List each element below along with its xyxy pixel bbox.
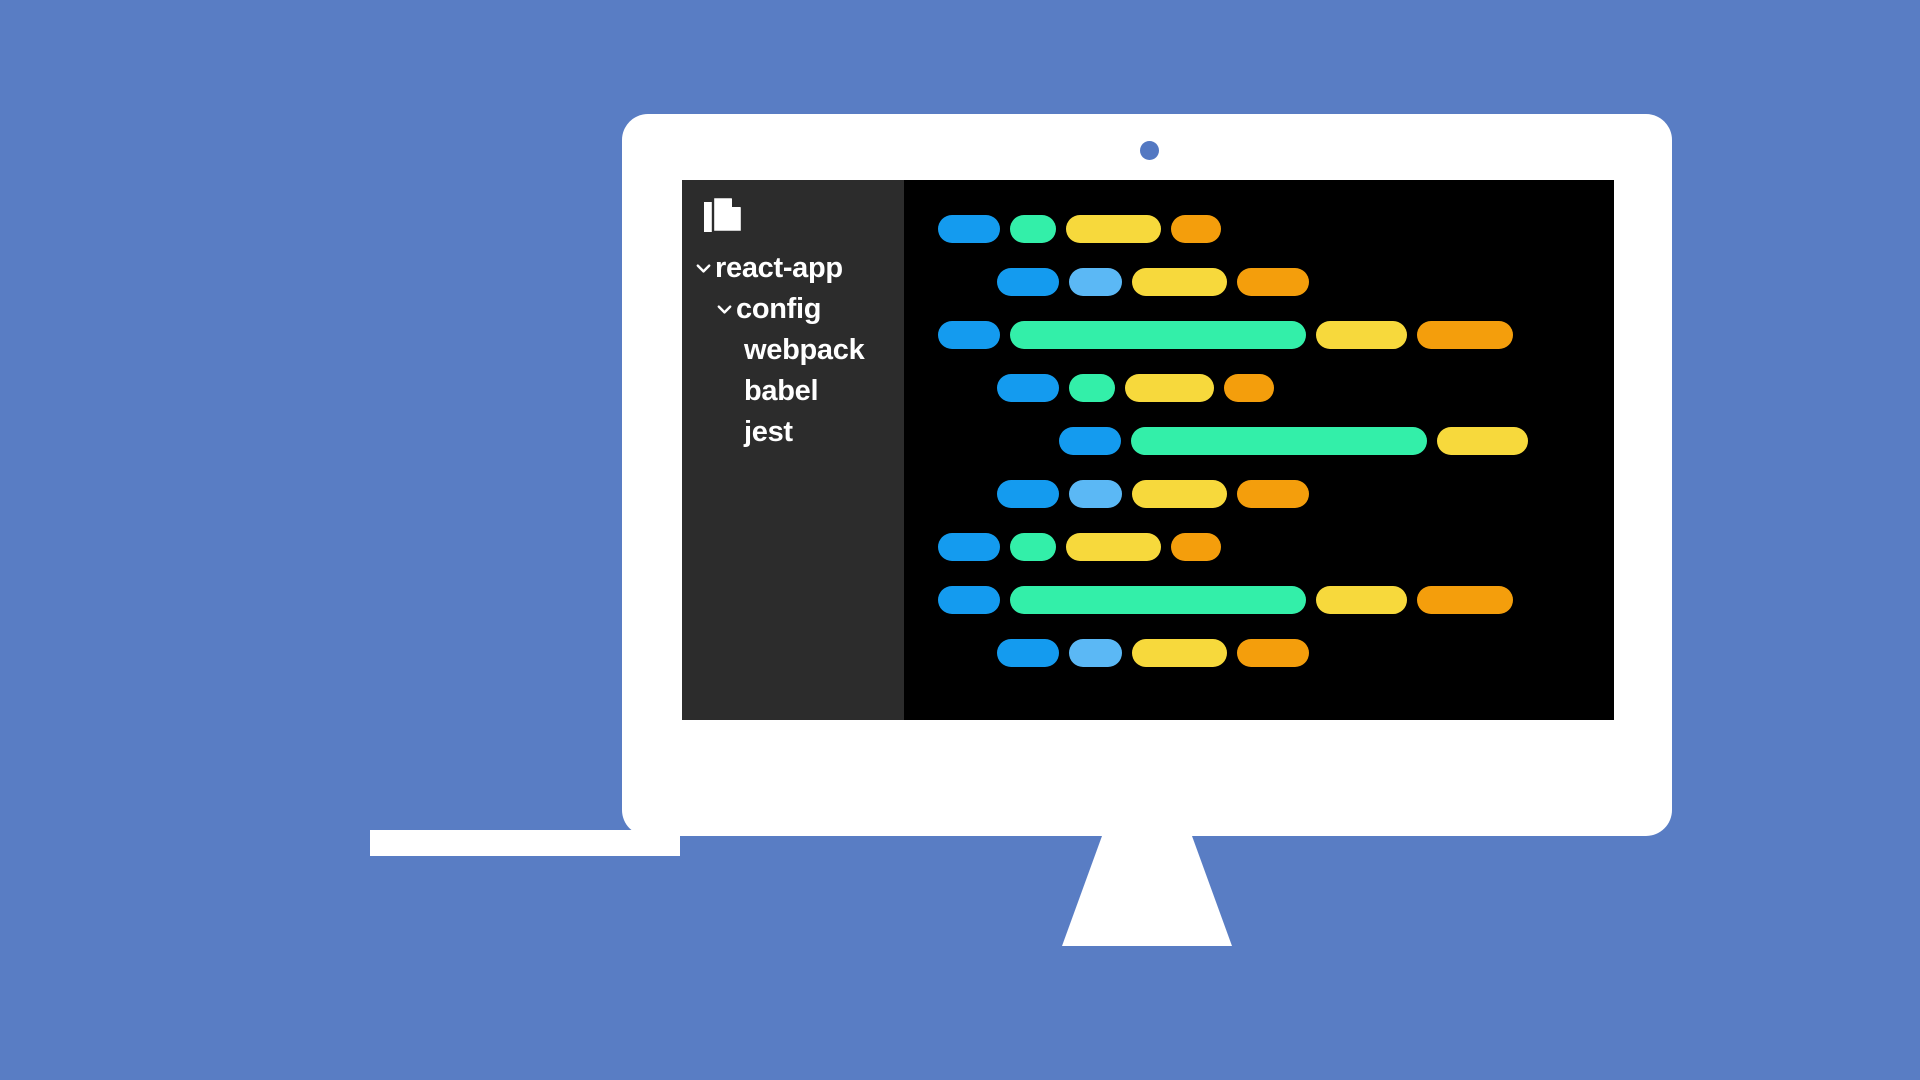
code-token-spring-green <box>1131 427 1427 455</box>
chevron-down-icon <box>694 259 713 278</box>
code-token-yellow <box>1066 533 1161 561</box>
code-token-orange <box>1237 268 1309 296</box>
monitor-stand-neck <box>622 836 1672 946</box>
tree-item-babel[interactable]: babel <box>682 371 904 412</box>
code-line <box>904 308 1614 361</box>
tree-item-label: react-app <box>715 254 843 283</box>
code-token-orange <box>1237 480 1309 508</box>
code-token-spring-green <box>1069 374 1115 402</box>
monitor-stand-base <box>370 830 680 856</box>
document-stack-icon <box>682 196 904 248</box>
code-line <box>904 202 1614 255</box>
code-token-orange <box>1237 639 1309 667</box>
tree-item-label: babel <box>744 377 818 406</box>
tree-item-label: jest <box>744 418 793 447</box>
code-token-blue <box>938 533 1000 561</box>
illustration-scene: react-app config webpack babel jest <box>0 0 1920 1080</box>
code-line <box>904 255 1614 308</box>
code-token-blue <box>997 480 1059 508</box>
file-tree-sidebar: react-app config webpack babel jest <box>682 180 904 720</box>
code-token-orange <box>1417 586 1513 614</box>
code-token-orange <box>1417 321 1513 349</box>
tree-item-webpack[interactable]: webpack <box>682 330 904 371</box>
monitor-screen: react-app config webpack babel jest <box>682 180 1614 720</box>
code-token-spring-green <box>1010 586 1306 614</box>
code-token-spring-green <box>1010 321 1306 349</box>
tree-item-react-app[interactable]: react-app <box>682 248 904 289</box>
code-token-spring-green <box>1010 533 1056 561</box>
code-line <box>904 467 1614 520</box>
code-token-blue <box>997 374 1059 402</box>
code-line <box>904 626 1614 679</box>
code-editor-pane[interactable] <box>904 180 1614 720</box>
code-token-orange <box>1171 215 1221 243</box>
code-token-yellow <box>1125 374 1214 402</box>
code-token-orange <box>1171 533 1221 561</box>
tree-item-label: webpack <box>744 336 864 365</box>
code-token-blue <box>938 586 1000 614</box>
code-token-light-blue <box>1069 480 1122 508</box>
code-line <box>904 361 1614 414</box>
tree-item-label: config <box>736 295 821 324</box>
code-token-blue <box>1059 427 1121 455</box>
code-token-blue <box>997 639 1059 667</box>
code-token-yellow <box>1437 427 1528 455</box>
code-token-blue <box>938 321 1000 349</box>
code-token-yellow <box>1316 586 1407 614</box>
code-token-yellow <box>1132 268 1227 296</box>
code-token-yellow <box>1132 480 1227 508</box>
code-token-spring-green <box>1010 215 1056 243</box>
code-token-yellow <box>1132 639 1227 667</box>
code-token-blue <box>938 215 1000 243</box>
code-token-orange <box>1224 374 1274 402</box>
code-token-yellow <box>1066 215 1161 243</box>
code-token-yellow <box>1316 321 1407 349</box>
monitor-body: react-app config webpack babel jest <box>622 114 1672 836</box>
code-token-blue <box>997 268 1059 296</box>
code-line <box>904 414 1614 467</box>
tree-item-jest[interactable]: jest <box>682 412 904 453</box>
code-token-light-blue <box>1069 639 1122 667</box>
webcam-icon <box>1140 141 1159 160</box>
tree-item-config[interactable]: config <box>682 289 904 330</box>
code-line <box>904 520 1614 573</box>
code-token-light-blue <box>1069 268 1122 296</box>
chevron-down-icon <box>715 300 734 319</box>
code-line <box>904 573 1614 626</box>
